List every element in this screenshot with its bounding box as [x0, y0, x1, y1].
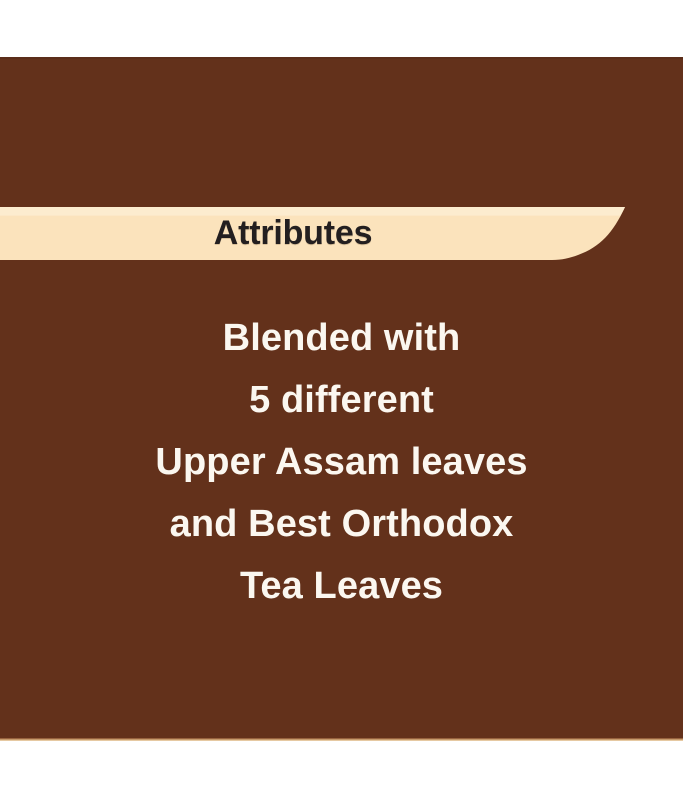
- panel-bottom-divider: [0, 738, 683, 741]
- attribute-line: Blended with: [0, 307, 683, 369]
- attributes-banner: Attributes: [0, 207, 625, 260]
- panel-top-divider: [0, 57, 683, 59]
- attribute-line: and Best Orthodox: [0, 493, 683, 555]
- attribute-line: Tea Leaves: [0, 555, 683, 617]
- attribute-line: 5 different: [0, 369, 683, 431]
- attributes-panel: Attributes Blended with 5 different Uppe…: [0, 57, 683, 741]
- product-attributes-screen: Attributes Blended with 5 different Uppe…: [0, 0, 683, 800]
- banner-title: Attributes: [0, 207, 586, 260]
- attribute-line: Upper Assam leaves: [0, 431, 683, 493]
- attributes-text-block: Blended with 5 different Upper Assam lea…: [0, 307, 683, 617]
